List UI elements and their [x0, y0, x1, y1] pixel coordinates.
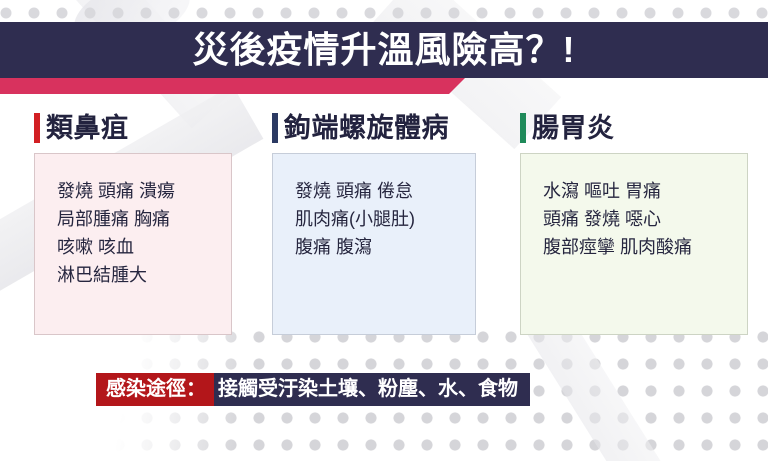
disease-card-gastroenteritis: 腸胃炎 水瀉 嘔吐 胃痛 頭痛 發燒 噁心 腹部痙攣 肌肉酸痛 [520, 108, 748, 335]
transmission-text: 接觸受汙染土壤、粉塵、水、食物 [214, 373, 530, 406]
symptom-line: 發燒 頭痛 倦怠 [295, 178, 475, 206]
accent-bar-icon [272, 113, 278, 143]
disease-heading: 鉤端螺旋體病 [272, 108, 498, 148]
symptom-line: 局部腫痛 胸痛 [57, 206, 231, 234]
symptom-line: 水瀉 嘔吐 胃痛 [543, 178, 747, 206]
transmission-banner: 感染途徑： 接觸受汙染土壤、粉塵、水、食物 [96, 373, 530, 406]
symptom-line: 咳嗽 咳血 [57, 234, 231, 262]
symptom-line: 肌肉痛(小腿肚) [295, 206, 475, 234]
disease-name: 腸胃炎 [532, 115, 615, 142]
transmission-label: 感染途徑： [96, 373, 214, 406]
symptom-line: 頭痛 發燒 噁心 [543, 206, 747, 234]
symptom-line: 淋巴結腫大 [57, 262, 231, 290]
accent-bar-icon [34, 113, 40, 143]
symptom-line: 腹痛 腹瀉 [295, 234, 475, 262]
page-title: 災後疫情升溫風險高？! [0, 22, 768, 78]
symptom-box: 水瀉 嘔吐 胃痛 頭痛 發燒 噁心 腹部痙攣 肌肉酸痛 [520, 153, 748, 335]
disease-columns: 類鼻疽 發燒 頭痛 潰瘍 局部腫痛 胸痛 咳嗽 咳血 淋巴結腫大 鉤端螺旋體病 … [0, 108, 768, 338]
disease-name: 類鼻疽 [46, 115, 129, 142]
symptom-line: 發燒 頭痛 潰瘍 [57, 178, 231, 206]
infographic-canvas: 災後疫情升溫風險高？! 類鼻疽 發燒 頭痛 潰瘍 局部腫痛 胸痛 咳嗽 咳血 淋… [0, 0, 768, 461]
disease-heading: 腸胃炎 [520, 108, 748, 148]
accent-bar-icon [520, 113, 526, 143]
symptom-box: 發燒 頭痛 潰瘍 局部腫痛 胸痛 咳嗽 咳血 淋巴結腫大 [34, 153, 232, 335]
header-accent-bar [0, 78, 465, 94]
disease-heading: 類鼻疽 [34, 108, 234, 148]
disease-name: 鉤端螺旋體病 [284, 115, 449, 142]
disease-card-melioidosis: 類鼻疽 發燒 頭痛 潰瘍 局部腫痛 胸痛 咳嗽 咳血 淋巴結腫大 [34, 108, 234, 335]
disease-card-leptospirosis: 鉤端螺旋體病 發燒 頭痛 倦怠 肌肉痛(小腿肚) 腹痛 腹瀉 [272, 108, 498, 335]
symptom-line: 腹部痙攣 肌肉酸痛 [543, 234, 747, 262]
symptom-box: 發燒 頭痛 倦怠 肌肉痛(小腿肚) 腹痛 腹瀉 [272, 153, 476, 335]
